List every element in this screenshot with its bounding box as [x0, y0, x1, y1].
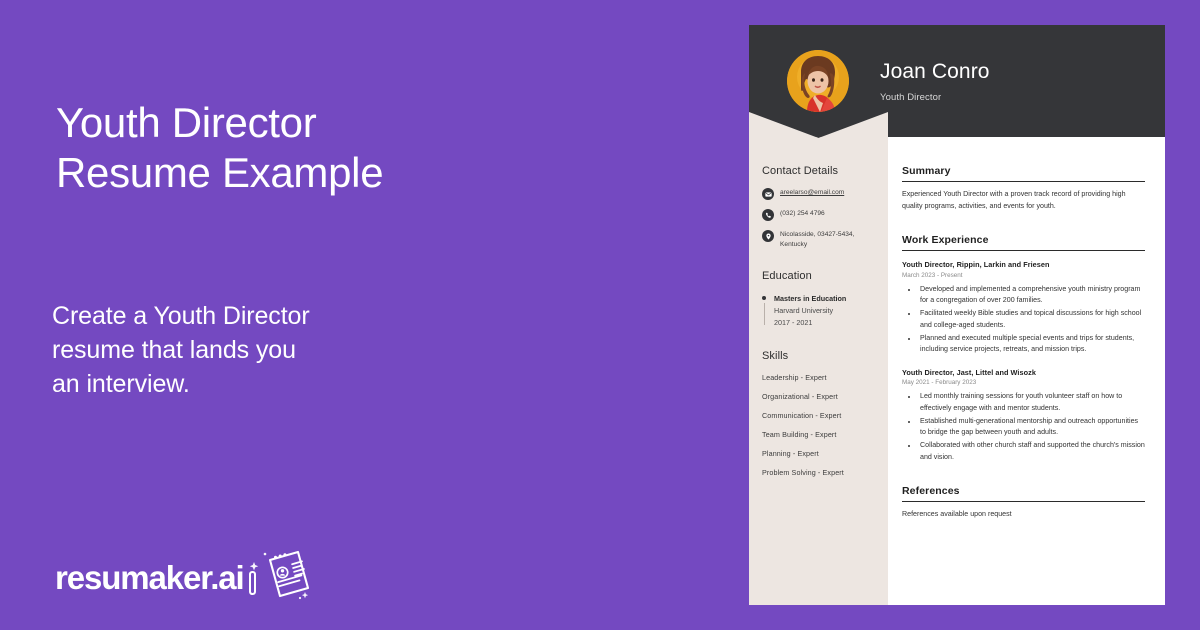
resume-header: Joan Conro Youth Director	[749, 25, 1165, 137]
work-experience-heading: Work Experience	[902, 234, 1145, 251]
subhead-line-3: an interview.	[52, 367, 472, 401]
education-section: Education Masters in Education Harvard U…	[762, 270, 875, 328]
summary-text: Experienced Youth Director with a proven…	[902, 189, 1145, 212]
job-bullet: Established multi-generational mentorshi…	[918, 416, 1145, 439]
subhead-line-1: Create a Youth Director	[52, 299, 472, 333]
resume-header-text: Joan Conro Youth Director	[880, 60, 990, 103]
skill-item: Organizational - Expert	[762, 392, 875, 401]
skill-item: Planning - Expert	[762, 449, 875, 458]
skill-item: Communication - Expert	[762, 411, 875, 420]
job-bullet: Planned and executed multiple special ev…	[918, 333, 1145, 356]
resume-document-icon	[248, 548, 310, 607]
job-title: Youth Director, Jast, Littel and Wisozk	[902, 368, 1145, 377]
job-bullet: Led monthly training sessions for youth …	[918, 391, 1145, 414]
resume-body: Contact Details areelarso@email.com (032…	[749, 137, 1165, 605]
job-bullet-list: Led monthly training sessions for youth …	[918, 391, 1145, 463]
header-chevron-notch	[749, 112, 888, 138]
phone-icon	[762, 209, 774, 221]
promo-headline: Youth Director Resume Example	[56, 98, 616, 198]
resume-preview-card[interactable]: Joan Conro Youth Director Contact Detail…	[749, 25, 1165, 605]
job-dates: March 2023 - Present	[902, 272, 1145, 279]
subhead-line-2: resume that lands you	[52, 333, 472, 367]
promo-panel: Youth Director Resume Example Create a Y…	[0, 0, 748, 630]
skills-heading: Skills	[762, 350, 875, 362]
job-entry: Youth Director, Jast, Littel and Wisozk …	[902, 368, 1145, 464]
education-item: Masters in Education Harvard University …	[762, 293, 875, 328]
skill-item: Leadership - Expert	[762, 373, 875, 382]
headline-line-1: Youth Director	[56, 98, 616, 148]
location-pin-icon	[762, 230, 774, 242]
job-bullet: Developed and implemented a comprehensiv…	[918, 284, 1145, 307]
contact-item-email[interactable]: areelarso@email.com	[762, 188, 875, 200]
contact-item-phone[interactable]: (032) 254 4796	[762, 209, 875, 221]
contact-item-address: Nicolasside, 03427-5434, Kentucky	[762, 230, 875, 250]
education-heading: Education	[762, 270, 875, 282]
brand-logo[interactable]: resumaker.ai	[55, 548, 310, 607]
references-section: References References available upon req…	[902, 485, 1145, 521]
education-degree: Masters in Education	[774, 293, 875, 304]
education-school: Harvard University	[774, 305, 875, 316]
email-text: areelarso@email.com	[780, 188, 844, 198]
skill-item: Team Building - Expert	[762, 430, 875, 439]
headline-line-2: Resume Example	[56, 148, 616, 198]
job-bullet: Collaborated with other church staff and…	[918, 440, 1145, 463]
references-text: References available upon request	[902, 509, 1145, 521]
envelope-icon	[762, 188, 774, 200]
avatar	[787, 50, 849, 112]
job-entry: Youth Director, Rippin, Larkin and Fries…	[902, 260, 1145, 356]
job-bullet-list: Developed and implemented a comprehensiv…	[918, 284, 1145, 356]
candidate-name: Joan Conro	[880, 60, 990, 84]
skills-section: Skills Leadership - Expert Organizationa…	[762, 350, 875, 477]
candidate-role: Youth Director	[880, 92, 990, 103]
skill-item: Problem Solving - Expert	[762, 468, 875, 477]
phone-text: (032) 254 4796	[780, 209, 825, 219]
brand-wordmark: resumaker.ai	[55, 559, 244, 597]
resume-sidebar: Contact Details areelarso@email.com (032…	[749, 137, 888, 605]
contact-details-heading: Contact Details	[762, 165, 875, 177]
resume-main-column: Summary Experienced Youth Director with …	[888, 137, 1165, 605]
job-title: Youth Director, Rippin, Larkin and Fries…	[902, 260, 1145, 269]
job-dates: May 2021 - February 2023	[902, 379, 1145, 386]
address-text: Nicolasside, 03427-5434, Kentucky	[780, 230, 875, 250]
summary-heading: Summary	[902, 165, 1145, 182]
education-years: 2017 - 2021	[774, 317, 875, 328]
promo-subheadline: Create a Youth Director resume that land…	[52, 299, 472, 401]
work-experience-section: Work Experience Youth Director, Rippin, …	[902, 234, 1145, 463]
job-bullet: Facilitated weekly Bible studies and top…	[918, 308, 1145, 331]
references-heading: References	[902, 485, 1145, 502]
